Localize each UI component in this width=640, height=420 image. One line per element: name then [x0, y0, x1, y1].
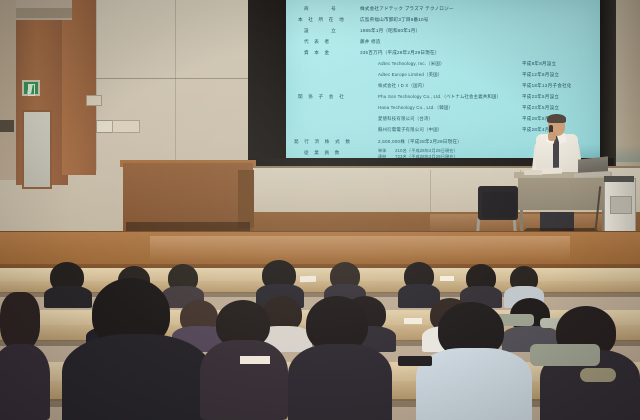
slide-label-capital: 資 本 金 [304, 50, 331, 56]
podium-side [238, 170, 254, 228]
wall-seam [96, 78, 256, 79]
notebook [300, 276, 316, 283]
audience-desk-row-back [0, 268, 640, 282]
slide-value-company: 株式会社アドテック プラズマ テクノロジー [360, 6, 454, 12]
slide-subsidiary-name: Adtec Technology, Inc.（米国） [378, 61, 445, 67]
slide-subsidiary-name: 蘇州衍電電子有限公司（中国） [378, 127, 442, 133]
emergency-exit-sign [22, 80, 40, 96]
slide-subsidiary-date: 平成23年5月設立 [522, 94, 559, 100]
av-cabinet-panel [610, 196, 632, 214]
presenter-desk [518, 176, 608, 210]
slide-label-company: 商 号 [304, 6, 338, 12]
audience-shoulders-blue-shirt [416, 348, 532, 420]
door-window [22, 110, 52, 189]
water-bottle [580, 368, 616, 382]
slide-label-shares: 発 行 済 株 式 数 [294, 139, 352, 145]
light-switch-plate-wide[interactable] [112, 120, 140, 133]
slide-value-ceo: 藤井 修造 [360, 39, 381, 45]
slide-subsidiary-name: 愛徳科技有限公司（台湾） [378, 116, 433, 122]
slide-subsidiary-date: 平成12年8月設立 [522, 72, 559, 78]
wall-seam [175, 0, 176, 170]
audience-shoulders [0, 344, 50, 420]
slide-value-capital: 335百万円（平成28年2月29日現在） [360, 50, 440, 56]
audience-shoulders [44, 286, 92, 308]
screen-right-frame [600, 0, 616, 168]
lecture-hall-photo: 商 号 株式会社アドテック プラズマ テクノロジー 本 社 所 在 地 広島県福… [0, 0, 640, 420]
slide-subsidiary-name: Hana Technology Co., Ltd.（韓国） [378, 105, 453, 111]
slide-label-ceo: 代 表 者 [304, 39, 331, 45]
screen-left-curtain [248, 0, 286, 168]
speaker-hand [548, 132, 556, 141]
slide-subsidiary-name: Phu Son Technology Co., Ltd.（ベトナム社会主義共和国… [378, 94, 501, 100]
podium-shadow [126, 222, 250, 231]
audience-shoulders [288, 344, 392, 420]
wall-outlet [86, 95, 102, 106]
slide-subsidiary-date: 平成18年12月子会社化 [522, 83, 572, 89]
audience-head [0, 292, 40, 350]
door-soffit [16, 8, 72, 18]
exit-doorway-icon [28, 84, 35, 96]
slide-subsidiary-name: 株式会社 I D X（国内） [378, 83, 427, 89]
speaker-hair [547, 114, 566, 123]
paper-sheet [440, 276, 454, 281]
slide-subsidiary-date: 平成8年8月設立 [522, 61, 556, 67]
notebook [240, 356, 270, 364]
wall-seam [96, 0, 97, 170]
wall-seam [430, 170, 431, 214]
podium [123, 163, 253, 231]
slide-value-shares: 2,500,000株（平成28年2月29日現在） [378, 139, 462, 145]
entrance-door-panel [62, 0, 96, 175]
papers-on-desk [524, 170, 542, 175]
slide-value-founded: 1985年1月（昭和60年1月） [360, 28, 420, 34]
wall-fixture [0, 120, 14, 132]
jacket [530, 344, 600, 366]
av-cabinet-top [604, 176, 634, 182]
bag-on-chair [482, 192, 516, 218]
slide-label-employees: 従 業 員 数 [304, 150, 342, 156]
stage-reflection [150, 236, 570, 262]
left-wall-panel [0, 0, 16, 180]
slide-subsidiary-name: Adtec Europe Limited（英国） [378, 72, 442, 78]
audience-shoulders [200, 340, 288, 420]
slide-label-founded: 設 立 [304, 28, 338, 34]
slide-value-address: 広島県福山市卸町3丁目6番10号 [360, 17, 429, 23]
paper-sheet [404, 318, 422, 324]
slide-label-subsidiaries: 関 係 子 会 社 [298, 94, 346, 100]
audience-shoulders-hoodie [62, 334, 212, 420]
slide-subsidiary-date: 平成23年5月設立 [522, 105, 559, 111]
smartphone [398, 356, 432, 366]
slide-label-address: 本 社 所 在 地 [298, 17, 346, 23]
